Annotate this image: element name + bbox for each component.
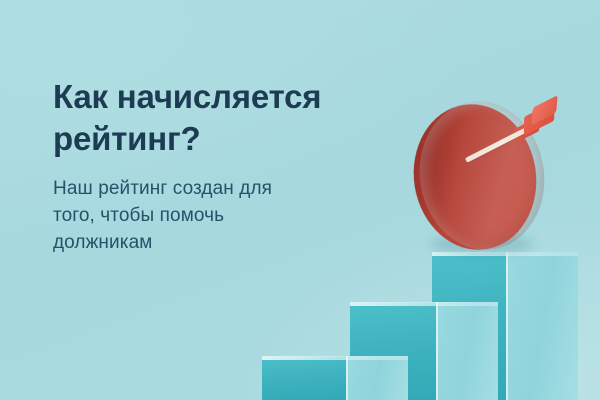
page-title: Как начисляется рейтинг?	[53, 76, 433, 160]
text-block: Как начисляется рейтинг? Наш рейтинг соз…	[53, 76, 433, 257]
target-icon	[412, 96, 552, 256]
page-subtitle: Наш рейтинг создан для того, чтобы помоч…	[53, 176, 383, 257]
promo-banner: Как начисляется рейтинг? Наш рейтинг соз…	[0, 0, 600, 400]
